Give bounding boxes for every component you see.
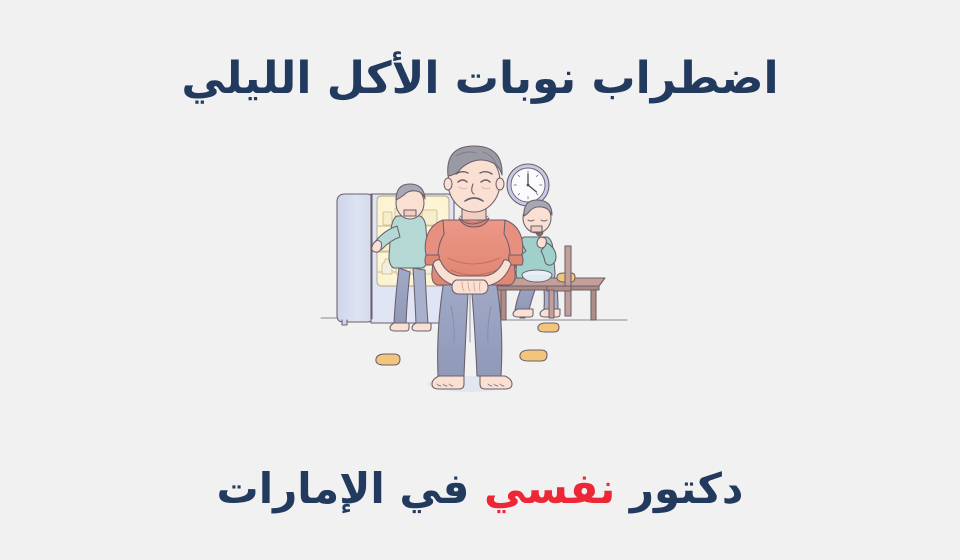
night-eating-syndrome-illustration <box>315 130 645 430</box>
illustration-container <box>0 130 960 430</box>
page-title: اضطراب نوبات الأكل الليلي <box>0 51 960 106</box>
wall-clock-icon <box>507 164 549 206</box>
subtitle-accent: نفسي <box>484 464 615 513</box>
subtitle-part-2: في الإمارات <box>217 464 484 513</box>
poster-root: اضطراب نوبات الأكل الليلي <box>0 0 960 560</box>
subtitle-part-1: دكتور <box>615 464 743 513</box>
subtitle: دكتور نفسي في الإمارات <box>0 464 960 514</box>
